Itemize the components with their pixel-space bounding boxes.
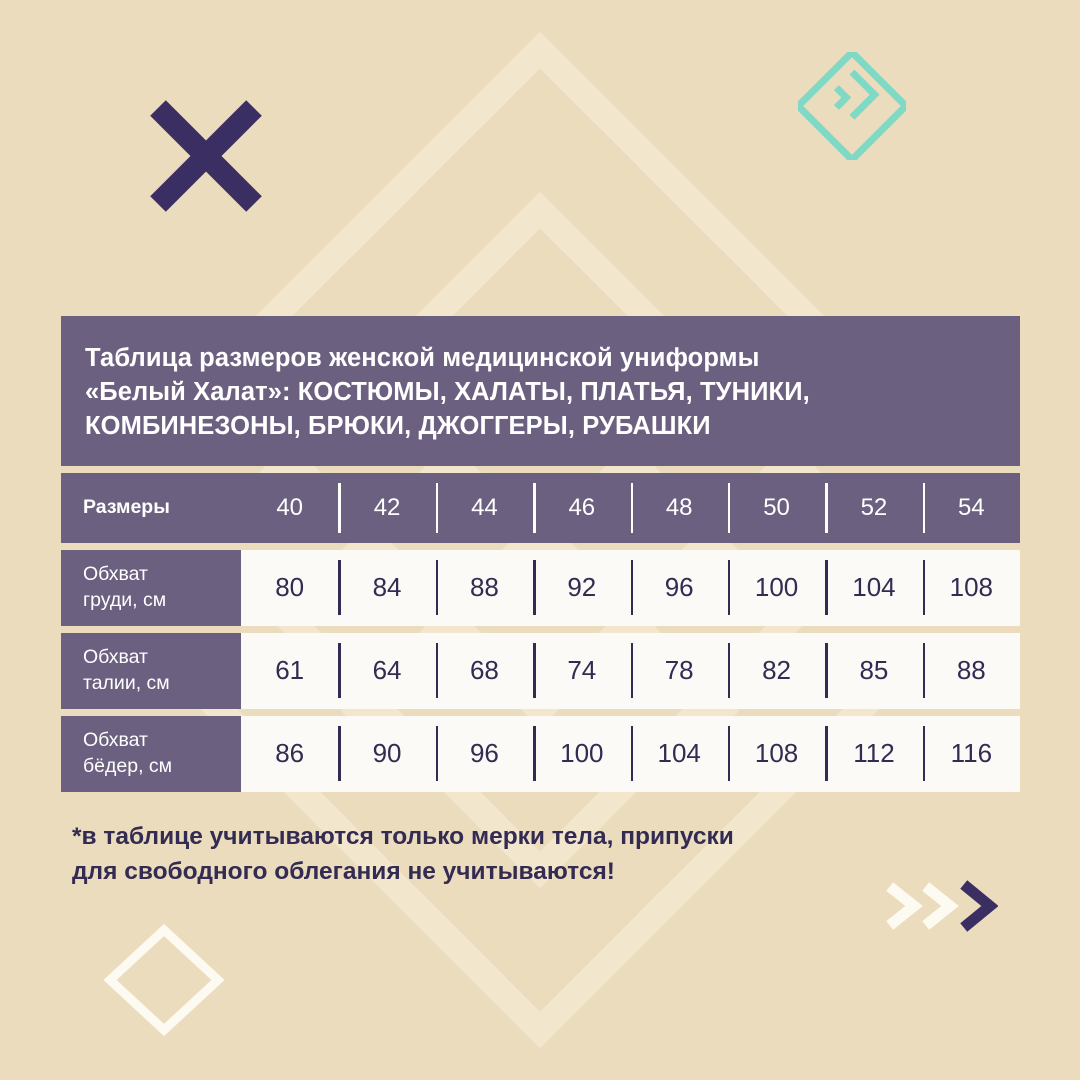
row-label-line-1: Обхват xyxy=(83,562,241,587)
table-row: Обхват груди, см 80 84 88 92 96 100 104 … xyxy=(61,550,1020,626)
row-label-waist: Обхват талии, см xyxy=(61,633,241,709)
table-title: Таблица размеров женской медицинской уни… xyxy=(61,316,1020,466)
table-title-line-3: КОМБИНЕЗОНЫ, БРЮКИ, ДЖОГГЕРЫ, РУБАШКИ xyxy=(85,410,996,444)
measure-cell: 92 xyxy=(533,550,630,626)
measure-cell: 78 xyxy=(631,633,728,709)
footnote-line-1: *в таблице учитываются только мерки тела… xyxy=(72,820,972,855)
x-mark-icon xyxy=(150,100,262,212)
table-body: Размеры 40 42 44 46 48 50 52 54 Обхват г… xyxy=(61,473,1020,792)
table-row: Обхват бёдер, см 86 90 96 100 104 108 11… xyxy=(61,716,1020,792)
white-diamond-icon xyxy=(100,920,228,1040)
measure-cell: 82 xyxy=(728,633,825,709)
table-title-line-1: Таблица размеров женской медицинской уни… xyxy=(85,342,996,376)
measure-cell: 86 xyxy=(241,716,338,792)
table-row: Обхват талии, см 61 64 68 74 78 82 85 88 xyxy=(61,633,1020,709)
measure-cell: 74 xyxy=(533,633,630,709)
row-cells-hips: 86 90 96 100 104 108 112 116 xyxy=(241,716,1020,792)
measure-cell: 112 xyxy=(825,716,922,792)
measure-cell: 88 xyxy=(923,633,1020,709)
teal-diamond-icon xyxy=(798,52,906,160)
row-label-hips: Обхват бёдер, см xyxy=(61,716,241,792)
measure-cell: 96 xyxy=(436,716,533,792)
size-cell: 48 xyxy=(631,473,728,543)
measure-cell: 116 xyxy=(923,716,1020,792)
measure-cell: 108 xyxy=(728,716,825,792)
row-label-line-1: Обхват xyxy=(83,645,241,670)
table-title-line-2: «Белый Халат»: КОСТЮМЫ, ХАЛАТЫ, ПЛАТЬЯ, … xyxy=(85,376,996,410)
size-cell: 46 xyxy=(533,473,630,543)
measure-cell: 100 xyxy=(533,716,630,792)
measure-cell: 90 xyxy=(338,716,435,792)
size-cell: 52 xyxy=(825,473,922,543)
header-row-label: Размеры xyxy=(61,473,241,543)
measure-cell: 104 xyxy=(631,716,728,792)
measure-cell: 100 xyxy=(728,550,825,626)
measure-cell: 64 xyxy=(338,633,435,709)
row-cells-waist: 61 64 68 74 78 82 85 88 xyxy=(241,633,1020,709)
size-table: Таблица размеров женской медицинской уни… xyxy=(61,316,1020,792)
measure-cell: 68 xyxy=(436,633,533,709)
row-cells-chest: 80 84 88 92 96 100 104 108 xyxy=(241,550,1020,626)
measure-cell: 108 xyxy=(923,550,1020,626)
measure-cell: 88 xyxy=(436,550,533,626)
measure-cell: 104 xyxy=(825,550,922,626)
table-header-row: Размеры 40 42 44 46 48 50 52 54 xyxy=(61,473,1020,543)
size-cell: 44 xyxy=(436,473,533,543)
row-label-chest: Обхват груди, см xyxy=(61,550,241,626)
row-label-line-2: бёдер, см xyxy=(83,754,241,779)
measure-cell: 85 xyxy=(825,633,922,709)
row-label-line-1: Обхват xyxy=(83,728,241,753)
size-cell: 50 xyxy=(728,473,825,543)
header-size-cells: 40 42 44 46 48 50 52 54 xyxy=(241,473,1020,543)
measure-cell: 61 xyxy=(241,633,338,709)
size-cell: 42 xyxy=(338,473,435,543)
size-cell: 40 xyxy=(241,473,338,543)
measure-cell: 96 xyxy=(631,550,728,626)
row-label-line-2: груди, см xyxy=(83,588,241,613)
footnote-line-2: для свободного облегания не учитываются! xyxy=(72,855,972,890)
size-cell: 54 xyxy=(923,473,1020,543)
footnote: *в таблице учитываются только мерки тела… xyxy=(72,820,972,890)
measure-cell: 84 xyxy=(338,550,435,626)
row-label-line-2: талии, см xyxy=(83,671,241,696)
measure-cell: 80 xyxy=(241,550,338,626)
